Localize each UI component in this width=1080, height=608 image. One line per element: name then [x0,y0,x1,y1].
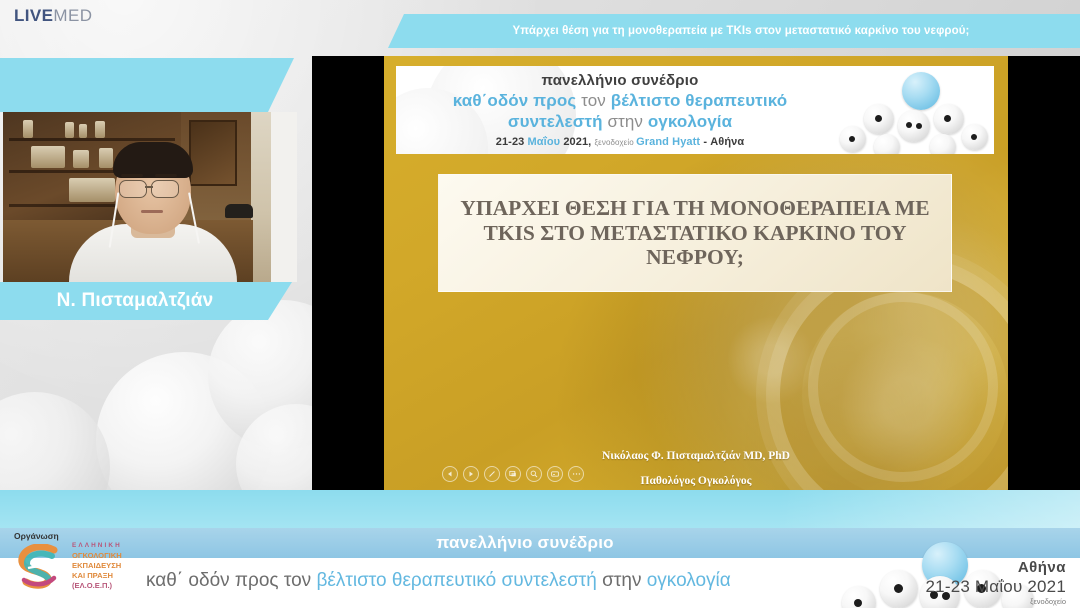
speaker-eyebrow [155,174,177,177]
speaker-glasses [119,180,147,198]
footer-ball [880,570,918,608]
video-object [23,120,33,138]
eloep-wordmark: ΕΛΛΗΝΙΚΗ ΟΓΚΟΛΟΓΙΚΗ ΕΚΠΑΙΔΕΥΣΗ ΚΑΙ ΠΡΑΞΗ… [72,542,122,591]
banner-ball [840,126,866,152]
webcam-top-accent [0,58,294,112]
speaker-mouth [141,210,163,213]
eloep-line-4: ΚΑΙ ΠΡΑΞΗ [72,571,122,581]
eloep-logo: ΕΛΛΗΝΙΚΗ ΟΓΚΟΛΟΓΙΚΗ ΕΚΠΑΙΔΕΥΣΗ ΚΑΙ ΠΡΑΞΗ… [14,542,122,591]
banner-l2-b: τον [581,91,611,110]
tagline-b: τον [284,570,317,591]
banner-ball [934,104,964,134]
slide-title-box: ΥΠΑΡΧΕΙ ΘΕΣΗ ΓΙΑ ΤΗ ΜΟΝΟΘΕΡΑΠΕΙΑ ΜΕ ΤΚΙS… [438,174,952,292]
banner-l4-a: 21-23 [496,136,528,148]
video-object [73,150,89,168]
brand-live: LIVE [14,6,53,25]
speaker-glasses [151,180,179,198]
banner-l2-a: καθ΄οδόν προς [453,91,581,110]
video-object [65,122,74,138]
presentation-slide[interactable]: πανελλήνιο συνέδριο καθ΄οδόν προς τον βέ… [384,56,1008,490]
banner-l3-c: ογκολογία [648,112,732,131]
speaker-video[interactable] [3,112,297,282]
eloep-line-2: ΟΓΚΟΛΟΓΙΚΗ [72,551,122,561]
banner-ball [962,124,988,150]
speaker-name-bar: Ν. Πισταμαλτζιάν [0,282,292,320]
video-object [69,178,115,202]
footer-dates: 21-23 Μαΐου 2021 [926,578,1066,597]
tagline-e: ογκολογία [647,570,731,591]
congress-footer: πανελλήνιο συνέδριο Οργάνωση ΕΛΛΗΝΙΚΗ ΟΓ… [0,528,1080,608]
presentation-toolbar[interactable] [442,466,584,482]
session-title-bar: Υπάρχει θέση για τη μονοθεραπεία με TKIs… [388,14,1080,48]
lower-accent-strip [0,490,1080,528]
session-title: Υπάρχει θέση για τη μονοθεραπεία με TKIs… [388,14,1080,48]
eloep-mark-icon [14,544,66,590]
banner-ball [898,110,930,142]
banner-l2-c: βέλτιστο θεραπευτικό [611,91,787,110]
video-shelf [9,138,175,141]
footer-ball [842,586,876,608]
speaker-eyebrow [121,174,143,177]
tagline-a: καθ΄ οδόν προς [146,570,279,591]
banner-ball [874,134,900,154]
livemed-logo: LIVEMED [14,6,92,26]
banner-line-1: πανελλήνιο συνέδριο [396,72,844,89]
more-options-button[interactable] [568,466,584,482]
footer-venue-info: Αθήνα 21-23 Μαΐου 2021 ξενοδοχείο Grand … [926,560,1066,608]
banner-l4-g: Αθήνα [710,136,744,148]
next-slide-button[interactable] [463,466,479,482]
footer-tagline: καθ΄ οδόν προς τον βέλτιστο θεραπευτικό … [146,570,731,592]
banner-line-4: 21-23 Μαΐου 2021, ξενοδοχείο Grand Hyatt… [396,136,844,148]
video-object [31,146,65,168]
eloep-line-3: ΕΚΠΑΙΔΕΥΣΗ [72,561,122,571]
banner-l4-c: 2021, [563,136,594,148]
video-picture-frame [189,120,237,186]
banner-line-3: συντελεστή στην ογκολογία [396,112,844,132]
banner-l4-f: - [700,136,710,148]
tagline-c: βέλτιστο θεραπευτικό συντελεστή [316,570,602,591]
banner-l4-e: Grand Hyatt [636,136,700,148]
speaker-glasses-bridge [145,186,153,188]
zoom-button[interactable] [526,466,542,482]
pen-button[interactable] [484,466,500,482]
strip-sheen [780,490,1080,528]
speaker-hair [113,142,193,178]
banner-ball [930,134,956,154]
banner-line-2: καθ΄οδόν προς τον βέλτιστο θεραπευτικό [396,91,844,111]
subtitles-button[interactable] [547,466,563,482]
screen: LIVEMED Υπάρχει θέση για τη μονοθεραπεία… [0,0,1080,608]
eloep-line-5: (ΕΛ.Ο.Ε.Π.) [72,581,122,591]
banner-l4-b: Μαΐου [528,136,564,148]
video-white-panel [271,112,297,282]
organizer-label: Οργάνωση [14,531,59,541]
banner-text: πανελλήνιο συνέδριο καθ΄οδόν προς τον βέ… [396,72,844,148]
speaker-name: Ν. Πισταμαλτζιάν [0,282,292,320]
video-object [79,124,87,138]
slide-viewport[interactable]: πανελλήνιο συνέδριο καθ΄οδόν προς τον βέ… [312,56,1080,490]
banner-ball-blue [902,72,940,110]
banner-l4-d: ξενοδοχείο [595,138,637,147]
author-name: Νικόλαος Φ. Πισταμαλτζιάν MD, PhD [384,450,1008,462]
banner-l3-a: συντελεστή [508,112,608,131]
tagline-d: στην [602,570,647,591]
slide-congress-banner: πανελλήνιο συνέδριο καθ΄οδόν προς τον βέ… [396,66,994,154]
eloep-line-1: ΕΛΛΗΝΙΚΗ [72,542,122,551]
all-slides-button[interactable] [505,466,521,482]
banner-l3-b: στην [607,112,647,131]
slide-title: ΥΠΑΡΧΕΙ ΘΕΣΗ ΓΙΑ ΤΗ ΜΟΝΟΘΕΡΑΠΕΙΑ ΜΕ ΤΚΙS… [439,196,951,270]
footer-city: Αθήνα [926,560,1066,577]
video-object [225,204,253,218]
previous-slide-button[interactable] [442,466,458,482]
video-object [99,148,113,168]
video-object [95,121,105,138]
banner-ball [864,104,894,134]
brand-med: MED [53,6,92,25]
